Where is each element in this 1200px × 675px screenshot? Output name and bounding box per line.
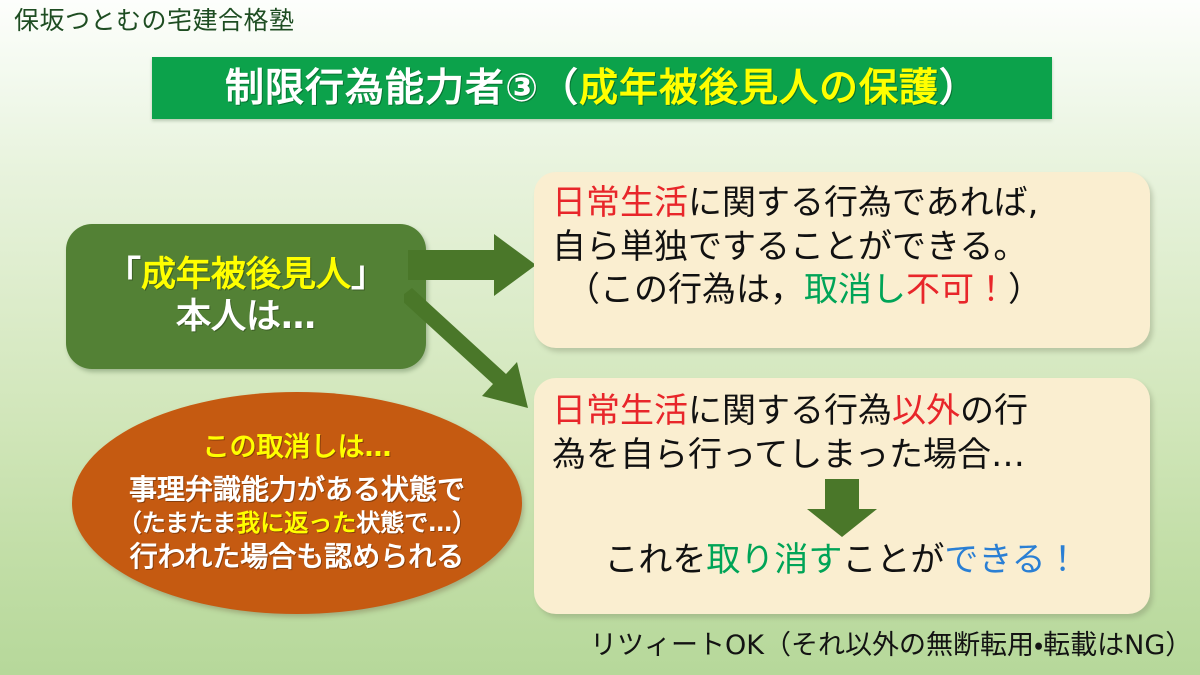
- arrow-down-icon: [552, 479, 1132, 539]
- beyond-daily-text-1: に関する行為: [688, 391, 892, 431]
- beyond-daily-cancel-word: 取り消す: [706, 540, 842, 580]
- slide-title-text: 制限行為能力者③（成年被後見人の保護）: [225, 69, 979, 108]
- beyond-daily-line-2: 為を自ら行ってしまった場合…: [552, 434, 1132, 478]
- cancellation-paren-close: 状態で…）: [356, 509, 476, 537]
- cancellation-line-2: （たまたま我に返った状態で…）: [118, 508, 477, 539]
- slide-title-banner: 制限行為能力者③（成年被後見人の保護）: [152, 57, 1052, 119]
- daily-life-cancel-word: 取消し: [804, 270, 906, 310]
- cancellation-highlight: 我に返った: [236, 509, 356, 537]
- daily-life-acts-box: 日常生活に関する行為であれば, 自ら単独ですることができる。 （この行為は，取消…: [534, 172, 1150, 348]
- actor-subject-line: 「成年被後見人」: [106, 255, 386, 296]
- header-brand-title: 保坂つとむの宅建合格塾: [14, 7, 295, 35]
- actor-subject-box: 「成年被後見人」 本人は…: [66, 224, 426, 369]
- slide-title-tail: ）: [939, 66, 979, 111]
- daily-life-line-1: 日常生活に関する行為であれば,: [552, 182, 1132, 226]
- beyond-daily-result-prefix: これを: [604, 540, 706, 580]
- actor-subject-label: 成年被後見人: [141, 255, 351, 295]
- arrow-down-right-icon: [404, 262, 554, 416]
- daily-life-paren-open: （この行為は，: [566, 270, 804, 310]
- actor-quote-close: 」: [351, 255, 386, 295]
- slide-canvas: 保坂つとむの宅建合格塾 制限行為能力者③（成年被後見人の保護） 「成年被後見人」…: [0, 0, 1200, 675]
- cancellation-line-1: 事理弁識能力がある状態で: [129, 472, 465, 508]
- beyond-daily-line-3: これを取り消すことができる！: [552, 539, 1132, 583]
- daily-life-text-1: に関する行為であれば,: [688, 183, 1038, 223]
- beyond-daily-emphasis-2: 以外: [892, 391, 960, 431]
- beyond-daily-can-word: できる！: [944, 540, 1079, 580]
- cancellation-line-3: 行われた場合も認められる: [130, 539, 465, 575]
- cancellation-heading: この取消しは…: [203, 432, 392, 464]
- beyond-daily-acts-box: 日常生活に関する行為以外の行 為を自ら行ってしまった場合… これを取り消すことが…: [534, 378, 1150, 614]
- daily-life-line-2: 自ら単独ですることができる。: [552, 226, 1132, 270]
- daily-life-emphasis-1: 日常生活: [552, 183, 688, 223]
- actor-quote-open: 「: [106, 255, 141, 295]
- beyond-daily-emphasis-1: 日常生活: [552, 391, 688, 431]
- beyond-daily-line-1: 日常生活に関する行為以外の行: [552, 390, 1132, 434]
- daily-life-not-possible: 不可！: [906, 270, 1008, 310]
- daily-life-paren-close: ）: [1008, 270, 1042, 310]
- actor-subject-subline: 本人は…: [176, 297, 316, 338]
- daily-life-line-3: （この行為は，取消し不可！）: [552, 269, 1132, 313]
- beyond-daily-result-mid: ことが: [842, 540, 944, 580]
- beyond-daily-text-2: の行: [960, 391, 1028, 431]
- cancellation-paren-open: （たまたま: [118, 509, 237, 537]
- slide-title-highlight: 成年被後見人の保護: [579, 66, 939, 111]
- cancellation-conditions-oval: この取消しは… 事理弁識能力がある状態で （たまたま我に返った状態で…） 行われ…: [72, 392, 522, 614]
- slide-title-main: 制限行為能力者③（: [225, 66, 579, 111]
- footer-usage-note: リツィートOK（それ以外の無断転用・転載はNG）: [590, 631, 1192, 661]
